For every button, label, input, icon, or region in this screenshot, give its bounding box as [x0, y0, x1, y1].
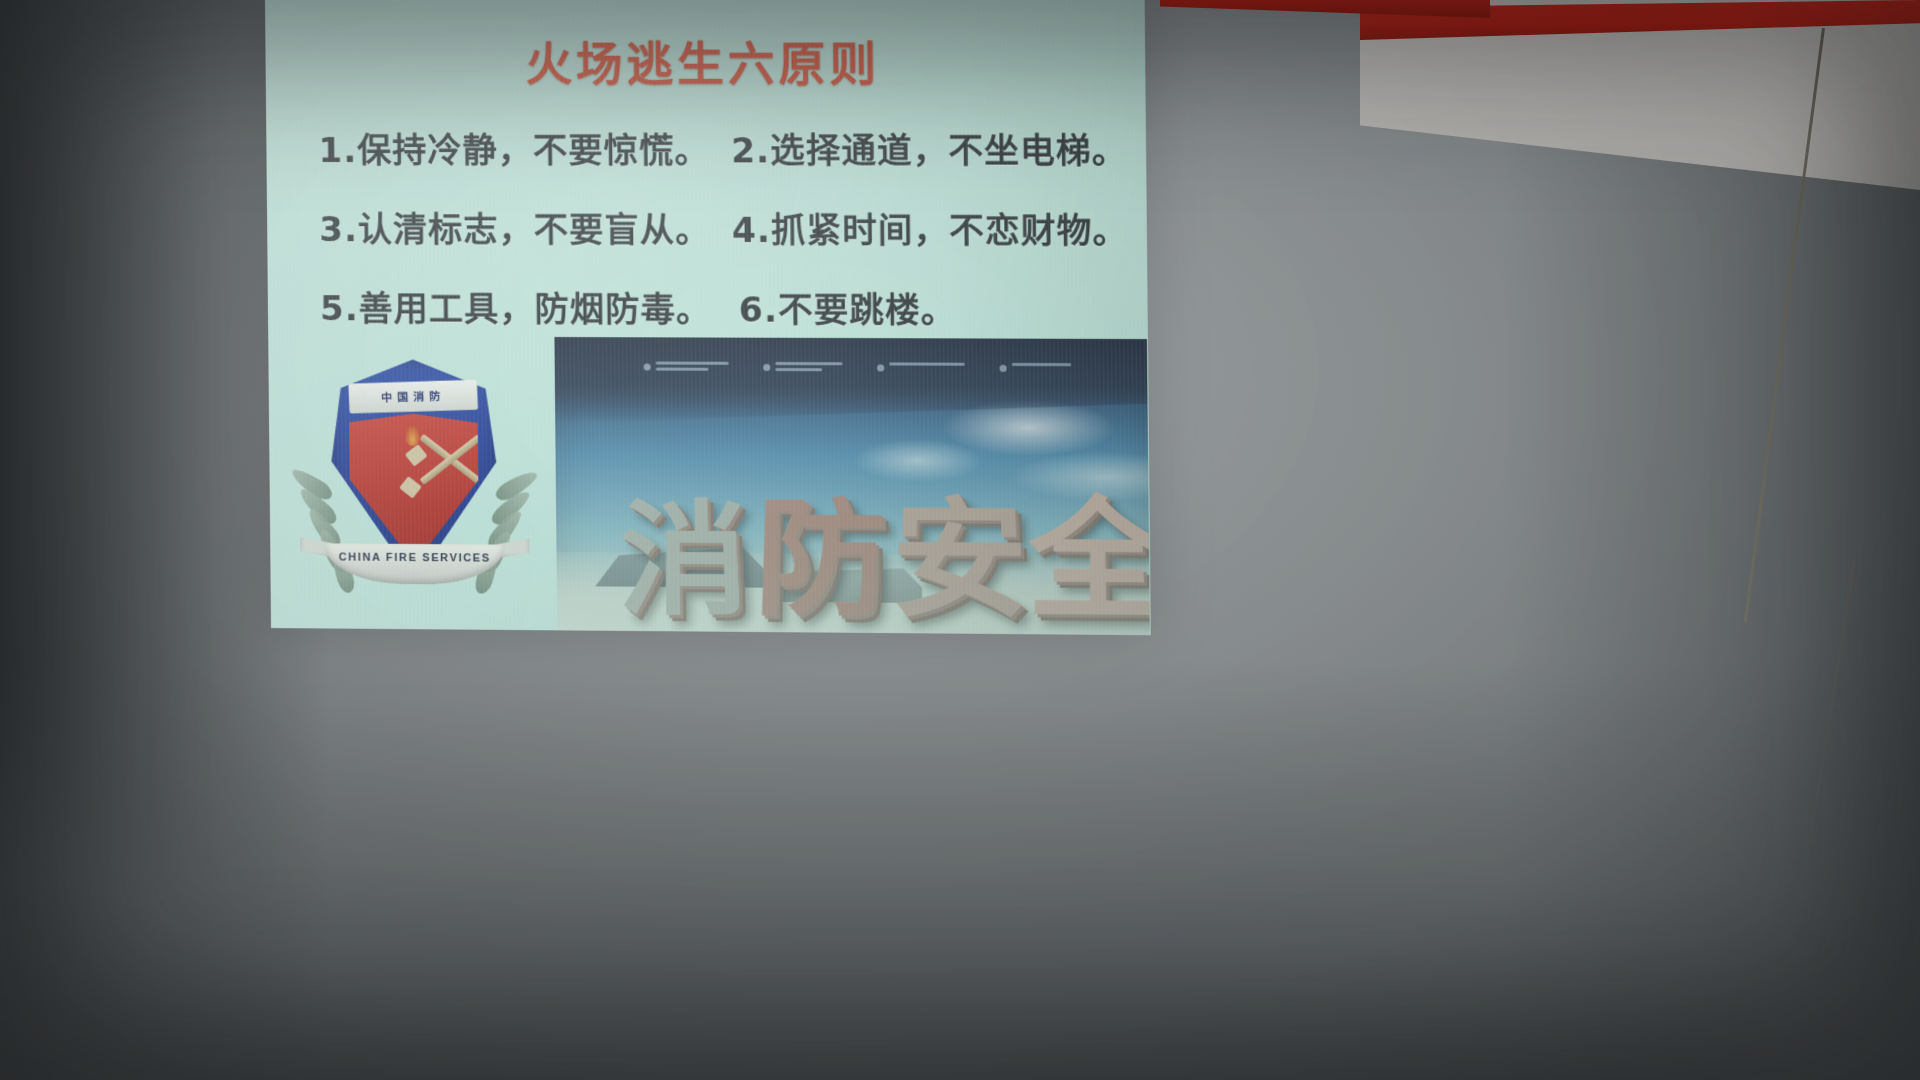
emblem-band: 中国消防: [348, 380, 478, 414]
flame-icon: [405, 426, 419, 446]
photo-overlay-nav: [644, 361, 1082, 385]
headline-glyph: 安: [889, 505, 1031, 615]
rule-item-1: 1.保持冷静，不要惊慌。: [302, 123, 717, 172]
emblem-ribbon: CHINA FIRE SERVICES: [300, 535, 530, 593]
headline-glyph: 全: [1026, 505, 1150, 617]
bullet-icon: [1000, 365, 1007, 372]
nav-chip-lines: [775, 362, 842, 371]
axe-head-icon: [399, 476, 422, 498]
china-fire-services-emblem: 中国消防 CHINA FIRE SERVICES: [290, 351, 539, 625]
nav-chip-lines: [656, 362, 729, 371]
emblem-ribbon-text: CHINA FIRE SERVICES: [324, 551, 505, 564]
rule-item-4: 4.抓紧时间，不恋财物。: [717, 203, 1128, 253]
nav-chip: [877, 362, 965, 371]
nav-chip-lines: [889, 362, 965, 365]
projected-slide: 火场逃生六原则 1.保持冷静，不要惊慌。 2.选择通道，不坐电梯。 3.认清标志…: [265, 0, 1151, 635]
bullet-icon: [877, 364, 884, 371]
nav-chip-lines: [1012, 363, 1071, 366]
wall-shadow-bottom: [0, 660, 1920, 1080]
rules-list: 1.保持冷静，不要惊慌。 2.选择通道，不坐电梯。 3.认清标志，不要盲从。 4…: [302, 108, 1129, 348]
slide-title: 火场逃生六原则: [265, 27, 1145, 94]
nav-chip: [644, 361, 729, 370]
rule-item-5: 5.善用工具，防烟防毒。: [304, 281, 725, 331]
rule-row: 3.认清标志，不要盲从。 4.抓紧时间，不恋财物。: [303, 187, 1129, 268]
rule-row: 1.保持冷静，不要惊慌。 2.选择通道，不坐电梯。: [302, 108, 1128, 188]
headline-glyph: 防: [753, 506, 893, 615]
rule-item-3: 3.认清标志，不要盲从。: [303, 202, 718, 252]
axe-head-icon: [405, 444, 428, 466]
nav-chip: [763, 362, 842, 371]
rule-item-2: 2.选择通道，不坐电梯。: [717, 123, 1128, 173]
rule-item-6: 6.不要跳楼。: [724, 282, 1129, 333]
nav-chip: [1000, 363, 1072, 372]
emblem-band-text: 中国消防: [381, 388, 446, 406]
fire-safety-banner-photo: 消 防 安 全: [554, 337, 1149, 635]
bullet-icon: [644, 363, 651, 370]
rule-row: 5.善用工具，防烟防毒。 6.不要跳楼。: [304, 266, 1130, 348]
bullet-icon: [763, 364, 770, 371]
screenshot-root: 火场逃生六原则 1.保持冷静，不要惊慌。 2.选择通道，不坐电梯。 3.认清标志…: [0, 0, 1920, 1080]
photo-headline: 消 防 安 全: [555, 435, 1149, 635]
headline-glyph: 消: [617, 509, 752, 614]
